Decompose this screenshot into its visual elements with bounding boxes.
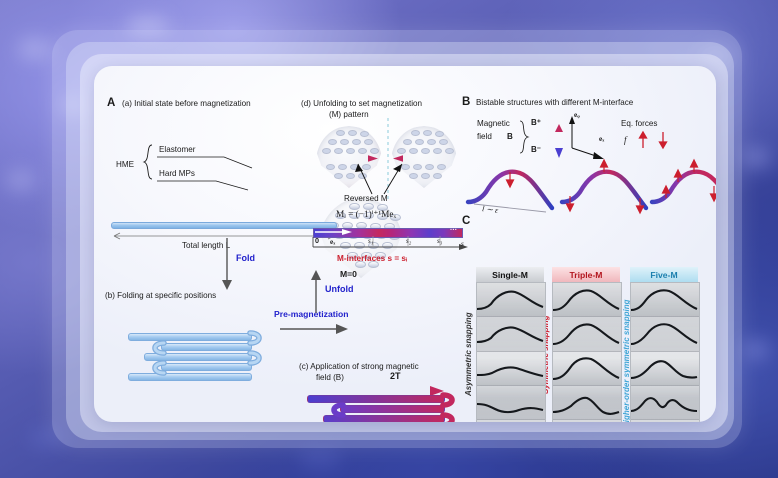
photo-cell — [631, 283, 699, 317]
leader-lines — [156, 146, 266, 194]
label-force-symbol: f — [624, 136, 627, 145]
label-unfold: Unfold — [325, 285, 354, 294]
magnetized-fold-bends-left — [329, 403, 351, 422]
magnetized-ribbon-segment — [340, 405, 445, 413]
magnetized-ribbon-segment — [307, 395, 445, 403]
hme-bracket — [142, 144, 156, 180]
equation-magnetization: Mᵢ = (−1)ⁱ⁺¹Meₓ — [336, 211, 396, 221]
caption-a: (a) Initial state before magnetization — [122, 100, 251, 108]
caption-d-line2: (M) pattern — [329, 111, 369, 119]
pre-magnetization-arrow — [280, 324, 352, 334]
caption-c-line2: field (B) — [316, 374, 344, 382]
bg-blob — [18, 38, 52, 60]
label-reversed-m: Reversed M — [344, 195, 388, 203]
photo-column-five-m — [630, 282, 700, 422]
photo-cell — [477, 283, 545, 317]
label-m-zero: M=0 — [340, 270, 357, 279]
photo-cell — [631, 317, 699, 351]
side-label-asymmetric-snapping: Asymmetric snapping — [464, 312, 473, 396]
folded-ribbon-segment — [128, 333, 252, 341]
bg-blob — [300, 450, 340, 468]
axis-label-s1: s₁ — [368, 238, 373, 246]
label-field-symbol-b: B — [507, 133, 513, 141]
folded-ribbon-segment — [128, 373, 252, 381]
axis-label-ex-b: eₓ — [599, 136, 604, 144]
photo-cell — [477, 317, 545, 351]
photo-column-triple-m — [552, 282, 622, 422]
panel-letter-b: B — [462, 96, 470, 108]
panel-b-title: Bistable structures with different M-int… — [476, 99, 633, 107]
label-magnetic-field-line1: Magnetic — [477, 120, 510, 128]
photo-column-single-m — [476, 282, 546, 422]
unfolded-ribbon — [111, 222, 337, 229]
figure-canvas: A (a) Initial state before magnetization… — [0, 0, 778, 478]
column-title-five-m: Five-M — [630, 267, 698, 282]
bistable-beam-triple — [560, 162, 652, 216]
label-b-plus: B⁺ — [531, 119, 541, 127]
figure-panel: A (a) Initial state before magnetization… — [94, 66, 716, 422]
label-m-interfaces: M-interfaces s = sᵢ — [337, 255, 407, 264]
photo-cell — [553, 352, 621, 386]
photo-cell — [553, 283, 621, 317]
label-eq-forces: Eq. forces — [621, 120, 657, 128]
photo-cell — [477, 352, 545, 386]
panel-letter-a: A — [107, 97, 115, 109]
column-title-triple-m: Triple-M — [552, 267, 620, 282]
label-field-strength: 2T — [390, 372, 401, 381]
field-bracket — [518, 120, 530, 154]
axis-label-ex: eₓ — [330, 239, 335, 247]
photo-cell — [631, 386, 699, 420]
magnetization-bar-arrow — [314, 228, 356, 236]
axis-label-ez: eᵩ — [574, 112, 580, 120]
label-fold: Fold — [236, 254, 255, 263]
label-length-epsilon: l ∼ ε — [482, 205, 499, 215]
axis-label-s: s — [461, 241, 464, 249]
unfold-arrow — [309, 269, 323, 313]
panel-letter-c: C — [462, 215, 470, 227]
photo-cell — [553, 420, 621, 422]
reversed-m-pointers — [338, 158, 426, 196]
bistable-beam-single — [466, 162, 558, 216]
photo-cell — [553, 386, 621, 420]
fold-bends-left — [150, 341, 172, 379]
column-title-single-m: Single-M — [476, 267, 544, 282]
fold-bends — [242, 331, 264, 379]
axis-label-s2: s₂ — [406, 238, 411, 246]
folded-ribbon-segment — [161, 343, 252, 351]
field-direction-arrows — [553, 114, 565, 160]
caption-d-line1: (d) Unfolding to set magnetization — [301, 100, 422, 108]
label-magnetic-field-line2: field — [477, 133, 492, 141]
bistable-beam-five — [650, 162, 716, 216]
caption-b: (b) Folding at specific positions — [105, 292, 216, 300]
magnetized-fold-bends — [435, 393, 457, 422]
axis-dots: ··· — [450, 226, 457, 234]
hme-label: HME — [116, 161, 134, 169]
bg-blob — [742, 340, 770, 360]
photo-cell — [477, 386, 545, 420]
axis-label-zero: 0 — [315, 237, 319, 245]
folded-ribbon-segment — [161, 363, 252, 371]
photo-cell — [553, 317, 621, 351]
magnetic-particle — [433, 173, 442, 179]
eq-force-arrows — [637, 130, 673, 150]
bg-blob — [742, 148, 770, 166]
photo-cell — [631, 352, 699, 386]
label-b-minus: B⁻ — [531, 146, 541, 154]
photo-cell — [631, 420, 699, 422]
bg-blob — [6, 170, 36, 190]
axis-label-s3: s₃ — [437, 238, 442, 246]
photo-cell — [477, 420, 545, 422]
fold-arrow — [220, 238, 234, 292]
